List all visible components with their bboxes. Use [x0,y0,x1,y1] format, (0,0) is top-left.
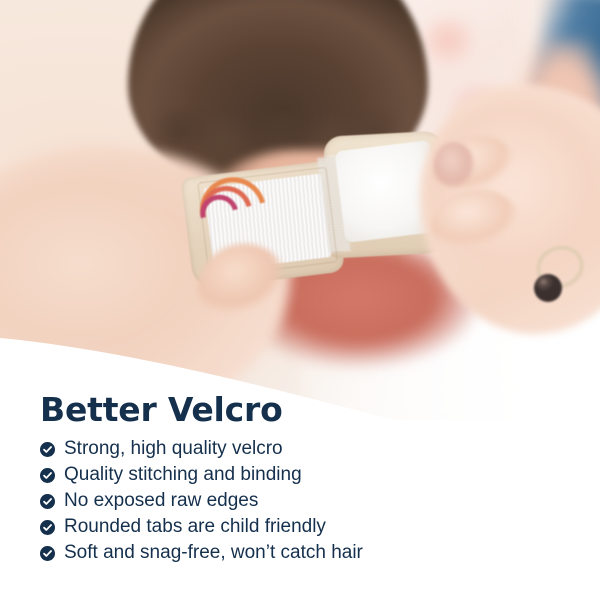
list-item: No exposed raw edges [40,488,560,514]
feature-label: Quality stitching and binding [64,464,302,486]
feature-label: Rounded tabs are child friendly [64,516,326,538]
feature-label: No exposed raw edges [64,490,258,512]
check-circle-icon [40,468,55,483]
check-circle-icon [40,546,55,561]
feature-label: Soft and snag-free, won’t catch hair [64,542,363,564]
list-item: Strong, high quality velcro [40,436,560,462]
product-photo [0,0,600,420]
feature-label: Strong, high quality velcro [64,438,283,460]
list-item: Soft and snag-free, won’t catch hair [40,540,560,566]
list-item: Quality stitching and binding [40,462,560,488]
feature-panel: Better Velcro Strong, high quality velcr… [40,392,560,566]
pearl-ring-stone [534,274,562,302]
check-circle-icon [40,494,55,509]
feature-list: Strong, high quality velcro Quality stit… [40,436,560,566]
check-circle-icon [40,442,55,457]
list-item: Rounded tabs are child friendly [40,514,560,540]
page-title: Better Velcro [40,392,560,428]
check-circle-icon [40,520,55,535]
product-feature-graphic: Better Velcro Strong, high quality velcr… [0,0,600,600]
